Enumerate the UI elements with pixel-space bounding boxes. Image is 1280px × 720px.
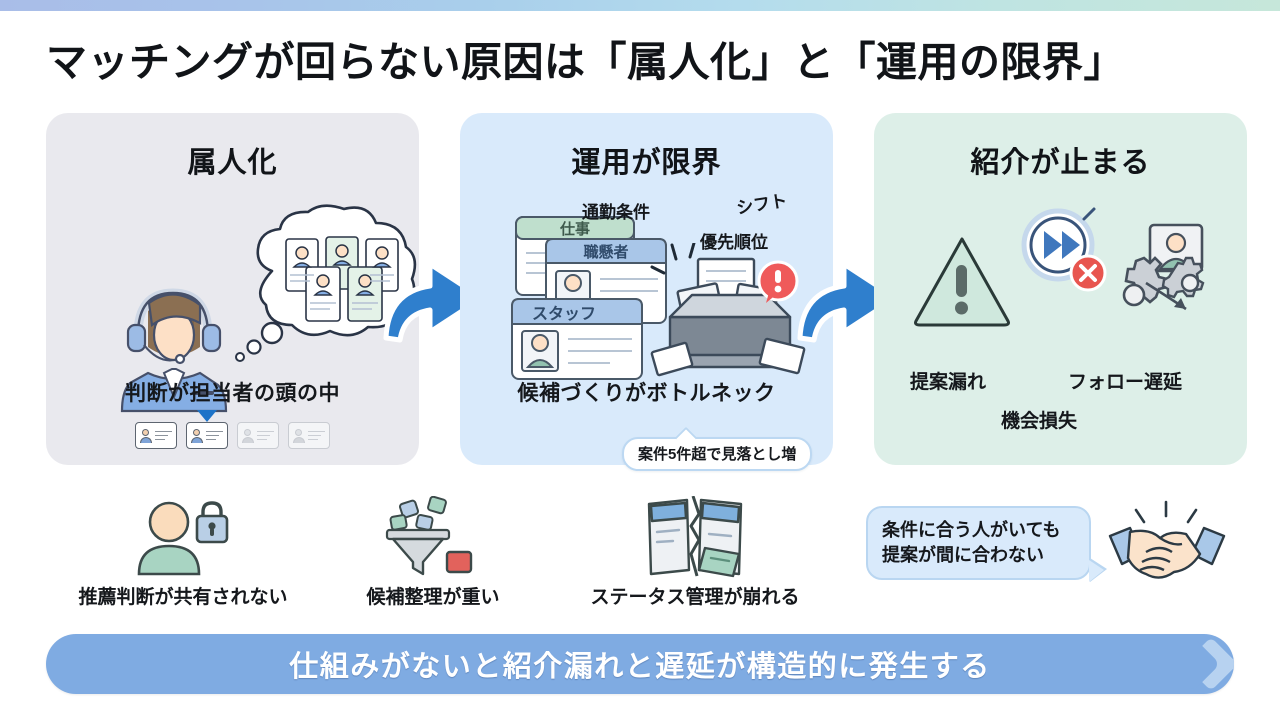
mini-card-lines bbox=[155, 431, 172, 441]
callout-bubble: 条件に合う人がいても 提案が間に合わない bbox=[866, 506, 1091, 580]
panel1-heading: 属人化 bbox=[46, 139, 419, 181]
bubble-line-1: 条件に合う人がいても bbox=[882, 518, 1075, 543]
panel2-caption: 候補づくりがボトルネック bbox=[460, 377, 833, 407]
panel3-label-teian-more: 提案漏れ bbox=[910, 367, 986, 394]
bubble-line-2: 提案が間に合わない bbox=[882, 543, 1075, 568]
card-label-kyushokusha: 職懸者 bbox=[583, 243, 628, 261]
panel-unyou-genkai: 運用が限界 仕事 職懸者 bbox=[460, 113, 833, 465]
funnel-overflow-icon-wrap bbox=[338, 494, 528, 578]
broken-kanban-icon-wrap bbox=[550, 494, 840, 578]
mini-card-2-selected[interactable] bbox=[186, 422, 228, 449]
panel1-caption: 判断が担当者の頭の中 bbox=[46, 377, 419, 407]
mini-card-avatar-icon bbox=[293, 429, 305, 443]
mini-card-lines bbox=[206, 431, 223, 441]
top-gradient-bar bbox=[0, 0, 1280, 11]
bottom-item-share: 推薦判断が共有されない bbox=[48, 494, 318, 609]
panel3-label-follow-delay: フォロー遅延 bbox=[1068, 367, 1182, 394]
panel3-label-opportunity-loss: 機会損失 bbox=[1001, 406, 1077, 433]
bottom-item-label: ステータス管理が崩れる bbox=[550, 582, 840, 609]
selected-marker-triangle-icon bbox=[197, 410, 217, 422]
handshake-icon bbox=[1108, 500, 1226, 588]
bottom-item-label: 候補整理が重い bbox=[338, 582, 528, 609]
person-lock-icon bbox=[129, 498, 237, 578]
fast-forward-blocked-icon bbox=[1014, 203, 1110, 295]
overflowing-inbox-icon bbox=[650, 243, 810, 383]
bottom-item-status: ステータス管理が崩れる bbox=[550, 494, 840, 609]
warning-triangle-icon bbox=[912, 233, 1012, 329]
broken-kanban-icon bbox=[641, 496, 749, 578]
mini-card-4-inactive[interactable] bbox=[288, 422, 330, 449]
card-label-staff: スタッフ bbox=[532, 305, 596, 323]
mini-card-avatar-icon bbox=[140, 429, 152, 443]
mini-card-avatar-icon bbox=[191, 429, 203, 443]
panel2-heading: 運用が限界 bbox=[460, 139, 833, 181]
slide-root: マッチングが回らない原因は「属人化」と「運用の限界」 属人化 bbox=[0, 0, 1280, 720]
banner-text: 仕組みがないと紹介漏れと遅延が構造的に発生する bbox=[289, 643, 991, 685]
mini-card-lines bbox=[257, 431, 274, 441]
mini-card-1[interactable] bbox=[135, 422, 177, 449]
mini-card-avatar-icon bbox=[242, 429, 254, 443]
person-gears-icon bbox=[1102, 223, 1214, 325]
panel3-heading: 紹介が止まる bbox=[874, 139, 1247, 181]
bottom-item-label: 推薦判断が共有されない bbox=[48, 582, 318, 609]
panel-zokujinka: 属人化 bbox=[46, 113, 419, 465]
banner-notch bbox=[1188, 634, 1234, 694]
bottom-banner: 仕組みがないと紹介漏れと遅延が構造的に発生する bbox=[46, 634, 1234, 694]
float-label-priority: 優先順位 bbox=[700, 228, 768, 253]
panel1-mini-card-row bbox=[46, 422, 419, 449]
note-pill-case-overflow: 案件5件超で見落とし増 bbox=[622, 437, 812, 471]
bottom-item-funnel: 候補整理が重い bbox=[338, 494, 528, 609]
mini-card-lines bbox=[308, 431, 325, 441]
person-lock-icon-wrap bbox=[48, 494, 318, 578]
page-title: マッチングが回らない原因は「属人化」と「運用の限界」 bbox=[46, 28, 1125, 88]
float-label-commute: 通勤条件 bbox=[582, 198, 650, 223]
mini-card-3-inactive[interactable] bbox=[237, 422, 279, 449]
funnel-overflow-icon bbox=[385, 496, 481, 578]
